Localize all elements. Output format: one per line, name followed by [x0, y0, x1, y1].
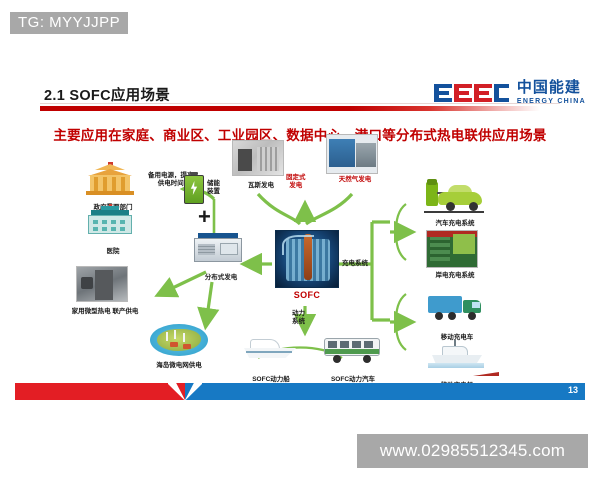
- edge-label-stationary: 固定式 发电: [286, 174, 306, 191]
- brand-text: 中国能建 ENERGY CHINA: [517, 80, 586, 105]
- footer-red-segment: [15, 383, 185, 400]
- shore-power-photo-icon: [426, 230, 484, 270]
- hospital-building-icon: [84, 206, 142, 246]
- ceec-mark-icon: [432, 82, 510, 104]
- node-label-island: 海岛微电网供电: [156, 362, 202, 370]
- plus-sign: +: [198, 206, 211, 228]
- battery-icon: [184, 172, 204, 204]
- sofc-stack-icon: [275, 230, 339, 288]
- page-title: 2.1 SOFC应用场景: [44, 84, 170, 105]
- node-label-ev-charging: 汽车充电系统: [436, 220, 475, 228]
- node-hospital[interactable]: 医院: [70, 206, 156, 256]
- brand-chinese: 中国能建: [517, 80, 586, 95]
- charging-truck-icon: [428, 292, 486, 332]
- node-mobile-charging-truck[interactable]: 移动充电车: [414, 292, 500, 342]
- ev-charging-car-icon: [424, 178, 486, 218]
- footer-blue-segment: [185, 383, 585, 400]
- node-label-distributed: 分布式发电: [205, 274, 238, 282]
- edge-label-power-system: 动力 系统: [292, 310, 305, 327]
- gas-power-photo-icon: [232, 140, 290, 180]
- charging-boat-icon: [428, 340, 486, 380]
- yacht-icon: [242, 334, 300, 374]
- edge-label-charging-system: 充电系统: [342, 260, 368, 268]
- node-micro-chp[interactable]: 家用微型热电 联产供电: [62, 266, 148, 316]
- node-sofc-boat[interactable]: SOFC动力船: [228, 334, 314, 384]
- government-building-icon: [84, 162, 142, 202]
- node-label-hospital: 医院: [107, 248, 120, 256]
- node-label-ng-power: 天然气发电: [339, 176, 372, 184]
- node-label-micro-chp: 家用微型热电 联产供电: [68, 308, 142, 316]
- brand-logo: 中国能建 ENERGY CHINA: [432, 80, 586, 105]
- node-sofc-bus[interactable]: SOFC动力汽车: [310, 334, 396, 384]
- application-scenario-diagram: 政府重要部门 医: [0, 144, 600, 400]
- island-microgrid-icon: [150, 320, 208, 360]
- node-government[interactable]: 政府重要部门: [70, 162, 156, 212]
- node-distributed-generation[interactable]: 分布式发电: [178, 232, 264, 282]
- node-natural-gas-power[interactable]: 天然气发电: [312, 134, 398, 184]
- bus-icon: [323, 334, 383, 374]
- footer-bar: 13: [0, 383, 600, 400]
- url-watermark: www.02985512345.com: [357, 434, 588, 468]
- natural-gas-photo-icon: [326, 134, 384, 174]
- micro-chp-photo-icon: [76, 266, 134, 306]
- node-label-sofc: SOFC: [294, 290, 321, 300]
- top-watermark: TG: MYYJJPP: [10, 12, 128, 34]
- title-underline: [40, 106, 540, 111]
- page-number: 13: [568, 385, 578, 395]
- slide-canvas: 2.1 SOFC应用场景 中国能建 ENERGY CHINA 主要应用在家庭、商…: [0, 62, 600, 400]
- node-ev-charging[interactable]: 汽车充电系统: [412, 178, 498, 228]
- brand-english: ENERGY CHINA: [517, 98, 586, 105]
- node-shore-power[interactable]: 岸电充电系统: [412, 230, 498, 280]
- generator-unit-icon: [192, 232, 250, 272]
- node-label-shore-power: 岸电充电系统: [436, 272, 475, 280]
- node-island-microgrid[interactable]: 海岛微电网供电: [136, 320, 222, 370]
- node-label-gas-power: 瓦斯发电: [248, 182, 274, 190]
- node-sofc-core[interactable]: SOFC: [262, 230, 352, 300]
